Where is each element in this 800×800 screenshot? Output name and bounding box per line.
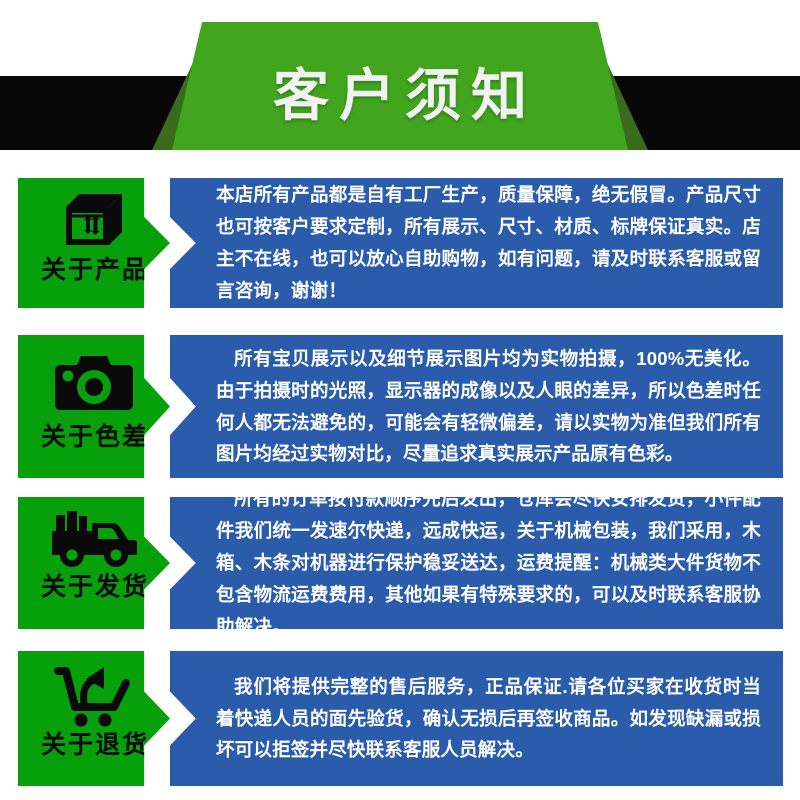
page-title: 客户须知 (263, 68, 537, 124)
camera-icon (44, 347, 144, 419)
section-text-shipping: 所有的订单按付款顺序先后发出，仓库会尽快安排发货，小件配件我们统一发速尔快递，远… (170, 479, 783, 646)
section-panel-product: 本店所有产品都是自有工厂生产，质量保障，绝无假冒。产品尺寸也可按客户要求定制，所… (170, 178, 783, 308)
section-label-returns: 关于退货 (39, 733, 149, 758)
customer-notice-page: 客户须知 (0, 0, 800, 800)
notice-section-color: 关于色差 所有宝贝展示以及细节展示图片均为实物拍摄，100%无美化。由于拍摄时的… (0, 335, 800, 478)
section-tile-color[interactable]: 关于色差 (18, 335, 170, 478)
section-panel-returns: 我们将提供完整的售后服务，正品保证.请各位买家在收货时当着快递人员的面先验货，确… (170, 651, 783, 786)
notice-section-returns: 关于退货 我们将提供完整的售后服务，正品保证.请各位买家在收货时当着快递人员的面… (0, 651, 800, 786)
section-label-shipping: 关于发货 (39, 575, 149, 600)
section-text-returns: 我们将提供完整的售后服务，正品保证.请各位买家在收货时当着快递人员的面先验货，确… (170, 667, 783, 770)
notice-section-product: 关于产品 本店所有产品都是自有工厂生产，质量保障，绝无假冒。产品尺寸也可按客户要… (0, 178, 800, 308)
section-tile-returns[interactable]: 关于退货 (18, 651, 170, 786)
ribbon-banner: 客户须知 (172, 22, 628, 150)
section-label-color: 关于色差 (39, 425, 149, 450)
section-text-color: 所有宝贝展示以及细节展示图片均为实物拍摄，100%无美化。由于拍摄时的光照，显示… (170, 339, 783, 474)
carton-box-icon (44, 188, 144, 250)
section-tile-product[interactable]: 关于产品 (18, 178, 170, 308)
forklift-truck-icon (44, 507, 144, 573)
notice-section-shipping: 关于发货 所有的订单按付款顺序先后发出，仓库会尽快安排发货，小件配件我们统一发速… (0, 497, 800, 629)
section-panel-color: 所有宝贝展示以及细节展示图片均为实物拍摄，100%无美化。由于拍摄时的光照，显示… (170, 335, 783, 478)
section-text-product: 本店所有产品都是自有工厂生产，质量保障，绝无假冒。产品尺寸也可按客户要求定制，所… (170, 175, 783, 310)
return-cart-icon (44, 661, 144, 731)
section-label-product: 关于产品 (39, 258, 149, 283)
page-header-banner: 客户须知 (0, 0, 800, 152)
section-tile-shipping[interactable]: 关于发货 (18, 497, 170, 629)
section-panel-shipping: 所有的订单按付款顺序先后发出，仓库会尽快安排发货，小件配件我们统一发速尔快递，远… (170, 497, 783, 629)
